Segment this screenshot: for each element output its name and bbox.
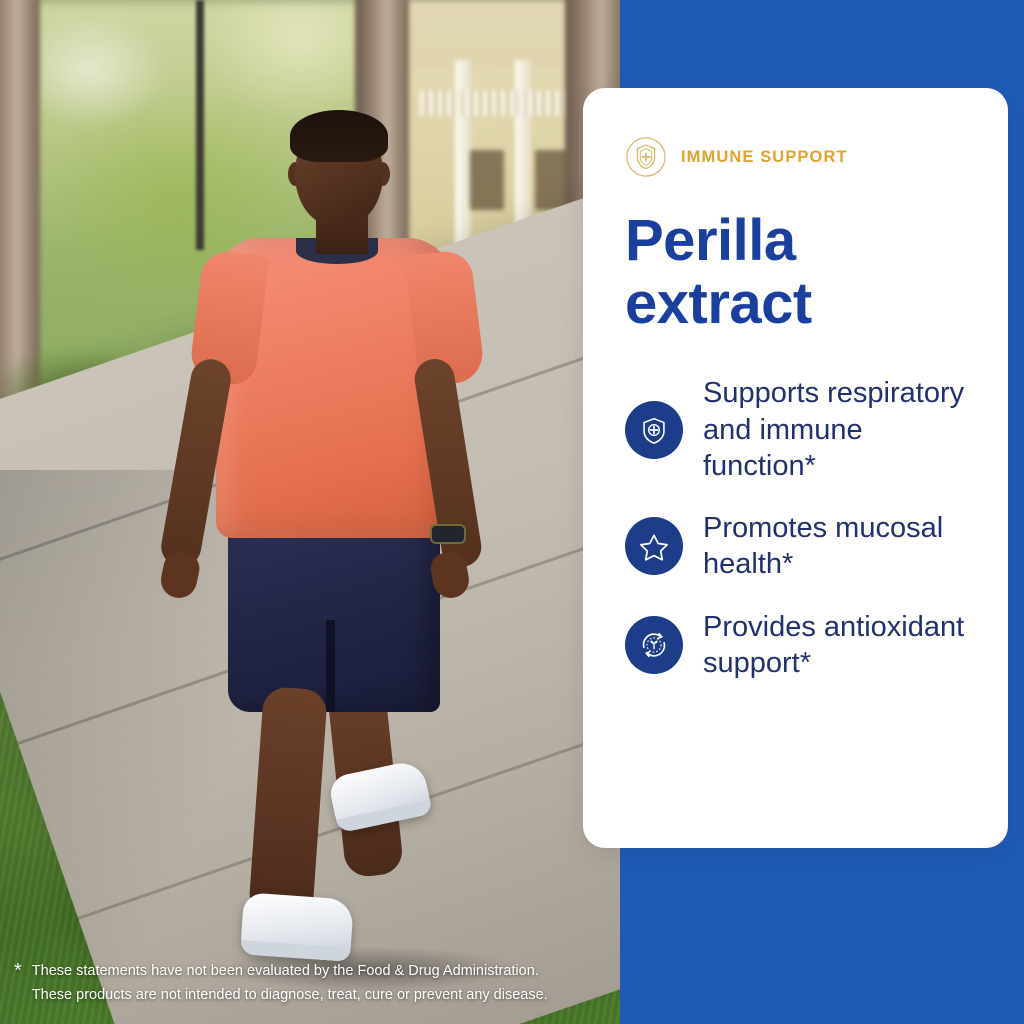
benefits-list: Supports respiratory and immune function…: [625, 375, 968, 681]
house-window: [535, 150, 569, 210]
disclaimer-asterisk: *: [14, 960, 22, 982]
wristwatch: [430, 524, 466, 544]
benefit-item: Provides antioxidant support*: [625, 609, 968, 682]
hero-photo: * These statements have not been evaluat…: [0, 0, 620, 1024]
shield-cross-icon: [625, 401, 683, 459]
product-card: IMMUNE SUPPORT Perilla extract Supports …: [583, 88, 1008, 848]
eyebrow-badge: IMMUNE SUPPORT: [625, 136, 968, 178]
benefit-item: Promotes mucosal health*: [625, 510, 968, 583]
headline-line-2: extract: [625, 273, 968, 336]
shoe-front: [240, 892, 354, 962]
disclaimer: * These statements have not been evaluat…: [14, 960, 614, 1008]
page-title: Perilla extract: [625, 210, 968, 335]
disclaimer-lines: These statements have not been evaluated…: [32, 960, 548, 1008]
benefit-label: Promotes mucosal health*: [703, 510, 968, 583]
antioxidant-renewal-icon: [625, 616, 683, 674]
eyebrow-label: IMMUNE SUPPORT: [681, 148, 848, 167]
promo-image: * These statements have not been evaluat…: [0, 0, 1024, 1024]
person-figure: [120, 100, 480, 1024]
leg-front: [248, 686, 328, 920]
headline-line-1: Perilla: [625, 210, 968, 273]
disclaimer-line-2: These products are not intended to diagn…: [32, 984, 548, 1008]
star-icon: [625, 517, 683, 575]
benefit-label: Provides antioxidant support*: [703, 609, 968, 682]
benefit-label: Supports respiratory and immune function…: [703, 375, 968, 484]
hair: [290, 110, 388, 162]
shorts-split: [326, 620, 335, 712]
disclaimer-line-1: These statements have not been evaluated…: [32, 960, 548, 984]
shield-cross-icon: [625, 136, 667, 178]
benefit-item: Supports respiratory and immune function…: [625, 375, 968, 484]
